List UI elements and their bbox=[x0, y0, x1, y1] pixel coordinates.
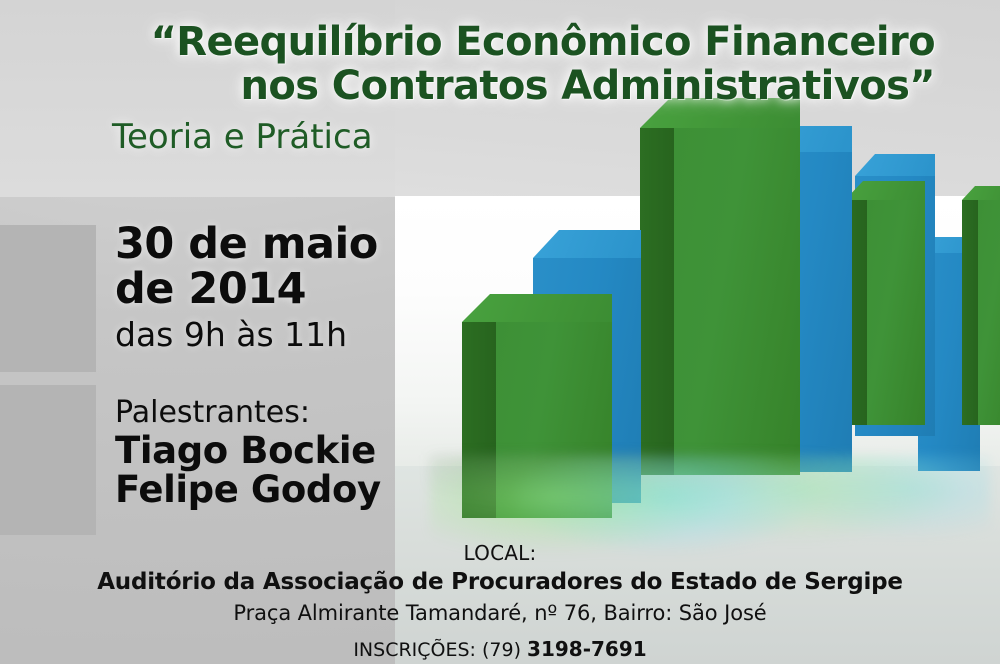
bar-side-face bbox=[962, 200, 978, 425]
venue-address: Praça Almirante Tamandaré, nº 76, Bairro… bbox=[0, 598, 1000, 628]
bar-green-2 bbox=[640, 128, 800, 475]
speaker-name-2: Felipe Godoy bbox=[115, 470, 381, 509]
venue-name: Auditório da Associação de Procuradores … bbox=[0, 566, 1000, 598]
page-subtitle: Teoria e Prática bbox=[112, 117, 373, 157]
page-title: “Reequilíbrio Econômico Financeiro nos C… bbox=[0, 22, 935, 106]
event-date-block: 30 de maio de 2014 das 9h às 11h bbox=[115, 222, 378, 356]
title-line-2: nos Contratos Administrativos” bbox=[0, 66, 935, 106]
speakers-label: Palestrantes: bbox=[115, 395, 381, 431]
event-date-line-1: 30 de maio bbox=[115, 222, 378, 267]
poster-canvas: “Reequilíbrio Econômico Financeiro nos C… bbox=[0, 0, 1000, 664]
bar-front-face bbox=[978, 200, 1000, 425]
bar-front-face bbox=[674, 128, 800, 475]
speaker-name-1: Tiago Bockie bbox=[115, 431, 381, 470]
bar-front-face bbox=[867, 200, 925, 425]
left-accent-block-bottom bbox=[0, 385, 96, 535]
registration-label: INSCRIÇÕES: (79) bbox=[353, 639, 527, 661]
registration-phone: 3198-7691 bbox=[527, 637, 647, 661]
event-time: das 9h às 11h bbox=[115, 314, 378, 356]
bar-green-3 bbox=[845, 200, 925, 425]
title-line-1: “Reequilíbrio Econômico Financeiro bbox=[151, 19, 935, 65]
local-label: LOCAL: bbox=[0, 540, 1000, 566]
bar-side-face bbox=[640, 128, 674, 475]
event-date-line-2: de 2014 bbox=[115, 267, 378, 312]
footer-block: LOCAL: Auditório da Associação de Procur… bbox=[0, 540, 1000, 664]
registration-line: INSCRIÇÕES: (79) 3198-7691 bbox=[0, 634, 1000, 664]
left-accent-block-top bbox=[0, 225, 96, 372]
speakers-block: Palestrantes: Tiago Bockie Felipe Godoy bbox=[115, 395, 381, 509]
bar-green-4 bbox=[962, 200, 1000, 425]
